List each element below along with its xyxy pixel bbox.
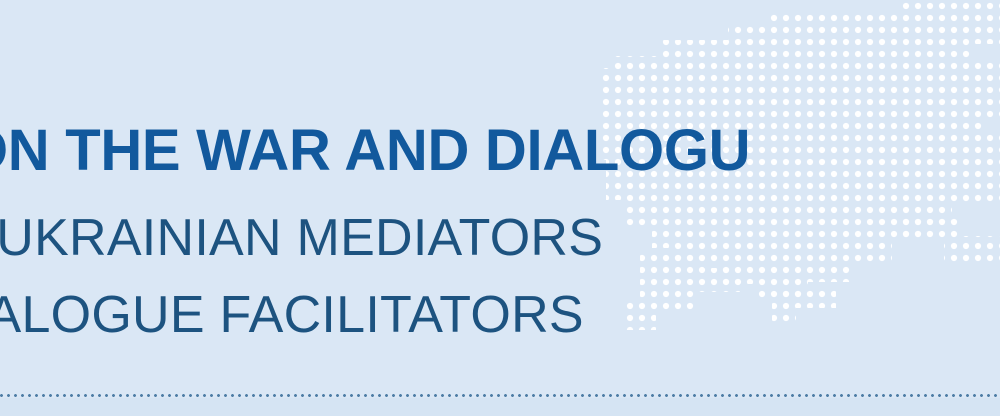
headline-line-secondary: M UKRAINIAN MEDIATORS <box>0 208 603 268</box>
headline-block: NTS ON THE WAR AND DIALOGU M UKRAINIAN M… <box>0 0 1000 380</box>
headline-line-tertiary: DIALOGUE FACILITATORS <box>0 285 584 345</box>
report-cover-banner: NTS ON THE WAR AND DIALOGU M UKRAINIAN M… <box>0 0 1000 416</box>
headline-line-primary: NTS ON THE WAR AND DIALOGU <box>0 117 750 184</box>
dotted-divider <box>0 394 1000 398</box>
footer-strip <box>0 398 1000 416</box>
